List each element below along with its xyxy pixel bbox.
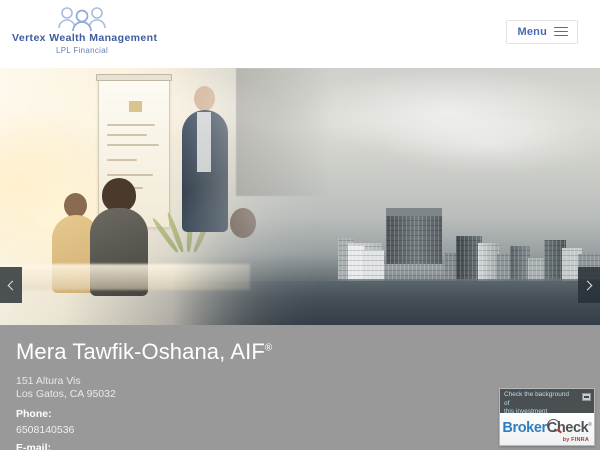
hero-image	[0, 68, 600, 325]
page-title: Mera Tawfik-Oshana, AIF®	[16, 339, 272, 365]
advisor-name: Mera Tawfik-Oshana, AIF	[16, 339, 265, 364]
magnifying-glass-icon	[547, 419, 560, 432]
brokercheck-attribution: by FINRA	[563, 437, 589, 443]
brokercheck-badge[interactable]: Check the background of this investment …	[499, 388, 595, 446]
phone-label: Phone:	[16, 408, 52, 420]
people-group-icon	[51, 6, 113, 32]
hero-carousel[interactable]	[0, 68, 600, 325]
chevron-left-icon	[8, 280, 18, 290]
brokercheck-registered-mark: ®	[588, 422, 591, 428]
hamburger-icon	[554, 27, 568, 38]
brokercheck-headline-line1: Check the background of	[504, 391, 576, 408]
menu-button-label: Menu	[517, 26, 547, 38]
site-logo[interactable]: Vertex Wealth Management LPL Financial	[12, 6, 152, 56]
carousel-next-button[interactable]	[578, 267, 600, 303]
address-line-1: 151 Altura Vis	[16, 375, 116, 388]
brokercheck-logo-broker: Broker	[502, 420, 546, 436]
site-header: Vertex Wealth Management LPL Financial M…	[0, 0, 600, 68]
minimize-icon[interactable]	[582, 393, 591, 401]
phone-value[interactable]: 6508140536	[16, 424, 74, 436]
attendee-figure	[218, 208, 272, 318]
office-scene-overlay	[0, 68, 330, 325]
address-block: 151 Altura Vis Los Gatos, CA 95032	[16, 375, 116, 400]
logo-subtitle: LPL Financial	[12, 45, 152, 56]
brokercheck-logo-area: BrokerCheck® by FINRA	[500, 413, 594, 445]
brokercheck-header: Check the background of this investment …	[500, 389, 594, 413]
address-line-2: Los Gatos, CA 95032	[16, 388, 116, 401]
logo-company-name: Vertex Wealth Management	[12, 32, 152, 45]
registered-mark: ®	[265, 343, 272, 354]
carousel-prev-button[interactable]	[0, 267, 22, 303]
menu-button[interactable]: Menu	[506, 20, 578, 44]
chevron-right-icon	[583, 280, 593, 290]
email-label: E-mail:	[16, 442, 51, 450]
